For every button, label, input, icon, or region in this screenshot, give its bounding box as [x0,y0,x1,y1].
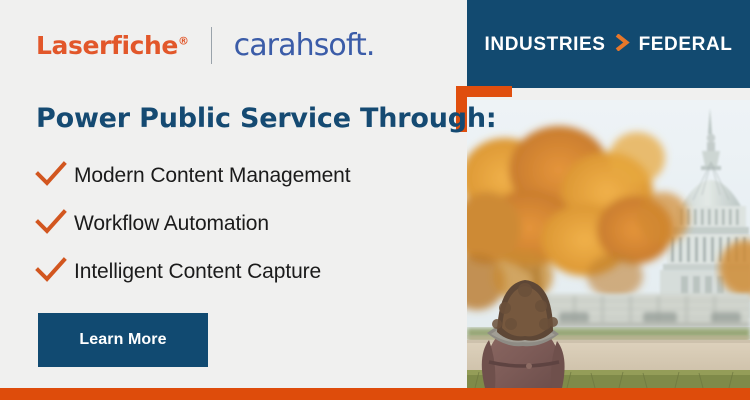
check-icon [34,256,74,289]
check-icon [34,208,74,241]
list-item-label: Intelligent Content Capture [74,260,321,284]
industry-segment-label: FEDERAL [639,34,733,55]
bottom-accent-stripe [0,388,750,400]
benefits-list: Modern Content Management Workflow Autom… [34,152,454,296]
carahsoft-logo[interactable]: carahsoft. [234,28,375,63]
industry-bar: INDUSTRIESFEDERAL [467,0,750,88]
learn-more-button-label: Learn More [79,331,166,349]
logo-row: Laserfiche® carahsoft. [36,27,375,63]
list-item: Modern Content Management [34,152,454,200]
page-title: Power Public Service Through: [36,103,496,134]
industry-category-label: INDUSTRIES [485,34,606,55]
check-icon [34,160,74,193]
list-item-label: Modern Content Management [74,164,351,188]
learn-more-button[interactable]: Learn More [38,313,208,367]
photo-illustration [467,100,750,388]
list-item: Intelligent Content Capture [34,248,454,296]
industry-breadcrumb: INDUSTRIESFEDERAL [485,33,733,56]
laserfiche-wordmark: Laserfiche [36,31,178,60]
logo-divider [211,27,212,64]
list-item-label: Workflow Automation [74,212,269,236]
chevron-right-icon [615,34,630,57]
marketing-banner: Laserfiche® carahsoft. INDUSTRIESFEDERAL [0,0,750,400]
registered-trademark-icon: ® [178,34,189,47]
us-capitol-autumn-photo [467,100,750,388]
list-item: Workflow Automation [34,200,454,248]
laserfiche-logo[interactable]: Laserfiche® [36,31,189,60]
